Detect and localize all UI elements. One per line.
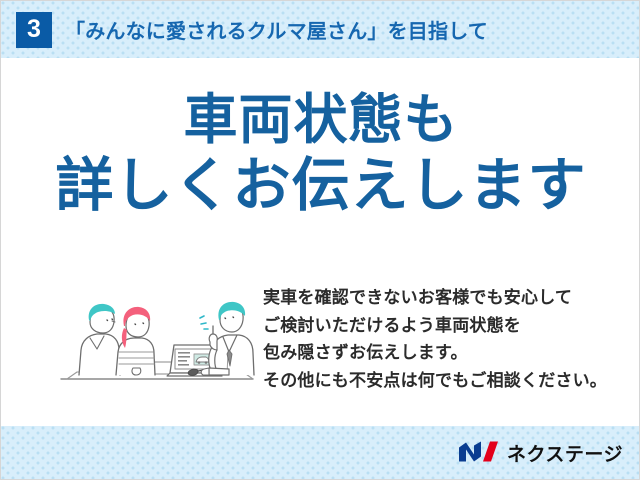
body-copy-line-4: その他にも不安点は何でもご相談ください。 [263, 367, 623, 395]
footer-band: ネクステージ [1, 426, 640, 479]
headline-line-1: 車両状態も [1, 89, 640, 152]
page-title: 車両状態も 詳しくお伝えします [1, 89, 640, 219]
promo-banner: 3 「みんなに愛されるクルマ屋さん」を目指して 車両状態も 詳しくお伝えします [0, 0, 640, 480]
brand-logo: ネクステージ [458, 439, 623, 466]
nextage-n-logo-icon [458, 440, 500, 466]
step-number-badge: 3 [16, 12, 52, 48]
headline-line-2: 詳しくお伝えします [1, 152, 640, 219]
header-band: 3 「みんなに愛されるクルマ屋さん」を目指して [1, 1, 640, 58]
body-copy: 実車を確認できないお客様でも安心して ご検討いただけるよう車両状態を 包み隠さず… [263, 284, 623, 394]
brand-name: ネクステージ [507, 439, 623, 466]
content-section: 実車を確認できないお客様でも安心して ご検討いただけるよう車両状態を 包み隠さず… [1, 276, 640, 401]
header-content: 3 「みんなに愛されるクルマ屋さん」を目指して [16, 1, 640, 58]
consultation-illustration [57, 276, 257, 394]
body-copy-line-2: ご検討いただけるよう車両状態を [263, 312, 623, 340]
header-title: 「みんなに愛されるクルマ屋さん」を目指して [65, 15, 488, 44]
body-copy-line-3: 包み隠さずお伝えします。 [263, 339, 623, 367]
body-copy-line-1: 実車を確認できないお客様でも安心して [263, 284, 623, 312]
consultation-at-desk-icon [57, 276, 257, 394]
